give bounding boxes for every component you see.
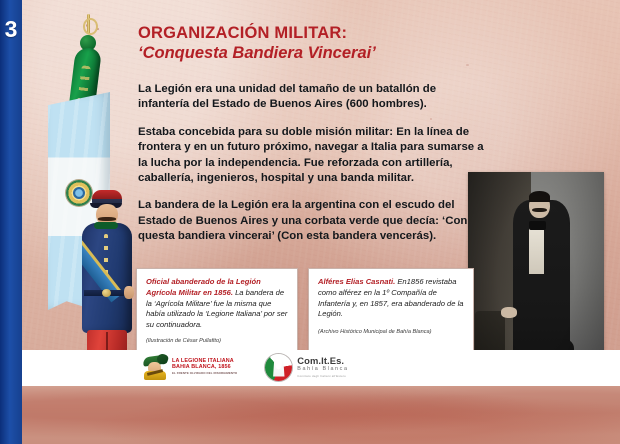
footer-divider xyxy=(22,383,620,386)
caption-right-credit: (Archivo Histórico Municipal de Bahía Bl… xyxy=(318,329,464,335)
panel-title-line2: ‘Conquesta Bandiera Vincerai’ xyxy=(138,44,498,64)
body-paragraph-2: Estaba concebida para su doble misión mi… xyxy=(138,125,486,187)
footer-logos: LA LEGIONE ITALIANA BAHIA BLANCA, 1856 E… xyxy=(142,352,349,382)
body-paragraph-3-text: La bandera de la Legión era la argentina… xyxy=(138,199,467,242)
panel-number: 3 xyxy=(0,18,22,41)
logo-comites-line2: Bahía Blanca xyxy=(297,367,348,373)
caption-left-credit: (Ilustración de César Pullafito) xyxy=(146,338,288,344)
logo-legione-line2: BAHIA BLANCA, 1856 xyxy=(172,365,237,371)
paper-speck xyxy=(466,64,469,66)
body-paragraph-3: La bandera de la Legión era la argentina… xyxy=(138,198,486,244)
logo-comites: Com.It.Es. Bahía Blanca Comitato degli I… xyxy=(265,354,348,381)
officer-sash xyxy=(82,232,134,318)
caption-right-lead: Alféres Elias Casnati. xyxy=(318,277,395,286)
comites-tricolor-icon xyxy=(265,354,292,381)
caption-right-text: Alféres Elias Casnati. En1856 revistaba … xyxy=(318,277,464,320)
logo-legione-text: LA LEGIONE ITALIANA BAHIA BLANCA, 1856 E… xyxy=(172,359,237,376)
belt-buckle xyxy=(102,289,111,297)
officer-moustache xyxy=(98,217,116,221)
officer-green-collar xyxy=(94,222,118,229)
panel-body-text: La Legión era una unidad del tamaño de u… xyxy=(138,82,486,257)
footer-weathered-band xyxy=(22,386,620,444)
bersagliere-icon xyxy=(142,354,168,380)
logo-comites-text: Com.It.Es. Bahía Blanca Comitato degli I… xyxy=(297,356,348,377)
caption-left-text: Oficial abanderado de la Legión Agrícola… xyxy=(146,277,288,331)
body-paragraph-1: La Legión era una unidad del tamaño de u… xyxy=(138,82,486,113)
panel-title-block: ORGANIZACIÓN MILITAR: ‘Conquesta Bandier… xyxy=(138,24,498,64)
logo-legione-italiana: LA LEGIONE ITALIANA BAHIA BLANCA, 1856 E… xyxy=(142,354,237,380)
exhibition-panel: 3 ORGANIZACIÓN MILITAR: ‘Conquesta Bandi… xyxy=(0,0,620,444)
logo-comites-line3: Comitato degli Italiani all'Estero xyxy=(297,375,348,378)
logo-legione-line3: EL FRENTE OLVIDADO DEL RISORGIMENTO xyxy=(172,372,237,375)
panel-title-line1: ORGANIZACIÓN MILITAR: xyxy=(138,24,498,43)
logo-comites-line1: Com.It.Es. xyxy=(297,356,348,366)
officer-hand xyxy=(124,286,134,299)
flag-bearer-officer-illustration xyxy=(50,8,146,390)
panel-side-rail: 3 xyxy=(0,0,22,444)
